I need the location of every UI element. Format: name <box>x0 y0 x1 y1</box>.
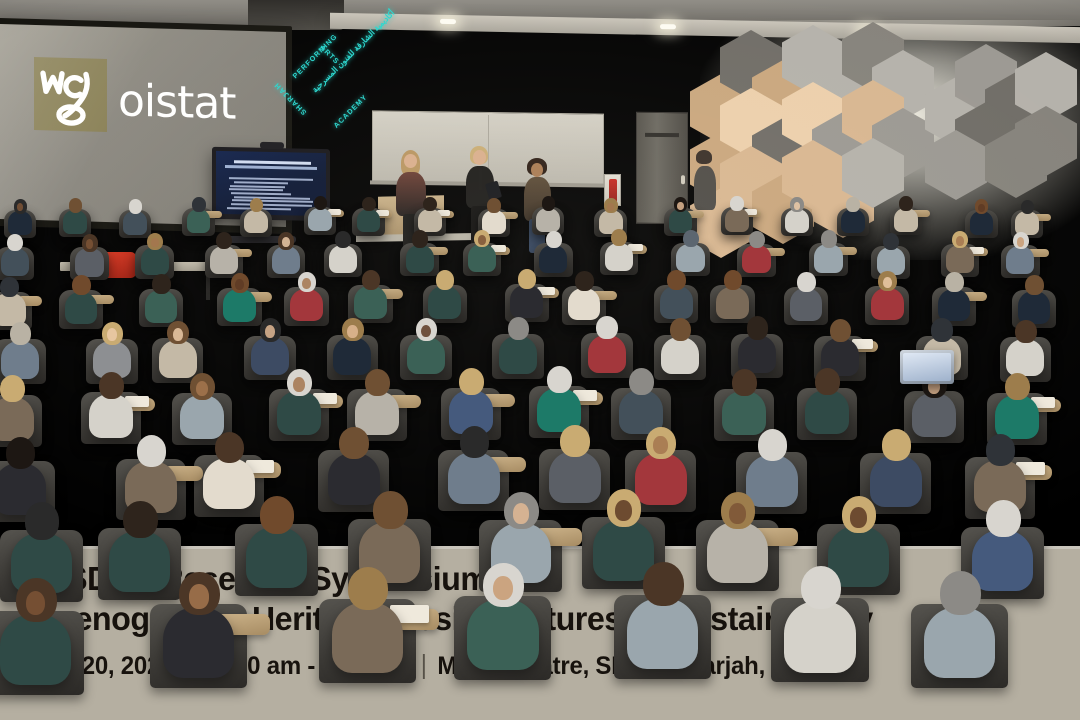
audience-member-face <box>493 576 512 600</box>
audience-member <box>1 341 39 379</box>
audience-member <box>510 285 543 318</box>
audience-member-head <box>373 491 408 528</box>
audience-member <box>141 247 169 275</box>
audience-member <box>1006 339 1044 377</box>
audience-member-head <box>436 270 455 290</box>
audience-member-face <box>151 238 159 248</box>
audience-member-head <box>0 375 25 402</box>
audience-member-head <box>348 567 389 611</box>
audience-member-head <box>129 199 143 214</box>
audience-member <box>742 245 770 273</box>
audience-member <box>635 453 687 505</box>
audience-member-head <box>1021 200 1035 215</box>
audience-member-head <box>487 198 501 213</box>
audience-member-head <box>460 426 490 458</box>
audience-member-head <box>0 277 19 297</box>
audience-member-face <box>794 202 800 210</box>
audience-member-face <box>978 204 984 212</box>
audience-member <box>187 209 211 233</box>
audience-member-head <box>7 234 23 251</box>
audience-member <box>328 453 380 505</box>
audience-member-head <box>412 230 428 247</box>
conference-photo: oistat PERFORMING SHARJAH ARTS ACADEMY أ… <box>0 0 1080 720</box>
audience-member <box>354 286 387 319</box>
audience-member-head <box>69 198 83 213</box>
audience-member-face <box>293 377 305 392</box>
audience-member <box>0 614 71 685</box>
audience-member-head <box>758 429 788 461</box>
audience-member <box>549 451 601 503</box>
audience-member <box>123 211 147 235</box>
audience-member <box>448 452 500 504</box>
audience-member <box>406 245 434 273</box>
audience-member-head <box>192 197 206 212</box>
audience-member <box>716 287 749 320</box>
audience-member-head <box>542 196 556 211</box>
audience-member-head <box>508 317 530 340</box>
event-poster: oistat PERFORMING SHARJAH ARTS ACADEMY أ… <box>0 0 1080 720</box>
audience-member-head <box>459 368 484 395</box>
audience-member-head <box>732 369 757 396</box>
audience-member <box>65 292 98 325</box>
audience-member-head <box>1025 275 1044 295</box>
audience-member <box>627 598 698 669</box>
audience-member-head <box>882 429 912 461</box>
audience-member <box>357 209 381 233</box>
audience-member-face <box>956 236 964 246</box>
audience-member-face <box>86 239 94 249</box>
audience-member-head <box>518 269 537 289</box>
audience-member-face <box>677 202 683 210</box>
audience-member <box>805 390 849 434</box>
audience-member-head <box>123 501 158 538</box>
audience-member <box>0 397 34 441</box>
audience-member <box>841 209 865 233</box>
audience-member <box>870 455 922 507</box>
spaa-arabic-text: أكاديمية الشارقة للفنون المسرحية <box>310 57 347 94</box>
audience-member-head <box>830 319 852 342</box>
audience-member-face <box>478 235 486 245</box>
audience-member <box>468 244 496 272</box>
audience-member-head <box>560 425 590 457</box>
audience-member-head <box>152 274 171 294</box>
audience-member <box>428 286 461 319</box>
audience-member-face <box>883 277 892 288</box>
audience-member <box>145 290 178 323</box>
audience-member-head <box>596 316 618 339</box>
audience-member-head <box>724 270 743 290</box>
presenter-hair <box>696 150 712 164</box>
audience-member-head <box>667 270 686 290</box>
audience-member-face <box>26 591 45 615</box>
downlight-icon <box>660 24 676 29</box>
audience-member-face <box>615 500 632 521</box>
presenter-head <box>473 150 486 165</box>
audience-member <box>746 455 798 507</box>
meta-separator <box>423 654 425 679</box>
audience-member-head <box>730 196 744 211</box>
audience-member-face <box>107 328 117 341</box>
audience-member-face <box>173 328 183 341</box>
audience-member <box>894 208 918 232</box>
audience-member-face <box>653 436 667 454</box>
audience-member-face <box>421 325 431 338</box>
audience-member <box>970 211 994 235</box>
audience-member <box>790 288 823 321</box>
audience-member <box>0 293 26 326</box>
audience-member-head <box>314 196 328 211</box>
audience-member-head <box>10 322 32 345</box>
audience-member-head <box>629 368 654 395</box>
audience-member <box>725 208 749 232</box>
audience-member <box>588 335 626 373</box>
audience-member-head <box>215 432 245 464</box>
audience-member-head <box>137 435 167 467</box>
audience-member-head <box>575 271 594 291</box>
audience-member-head <box>815 368 840 395</box>
audience-member <box>605 243 633 271</box>
presenter-head <box>404 154 417 168</box>
audience-member-head <box>846 197 860 212</box>
audience-member <box>660 286 693 319</box>
audience-member-head <box>362 197 376 212</box>
audience-member <box>784 601 855 672</box>
audience-member <box>89 394 133 438</box>
audience-member-face <box>196 381 208 396</box>
audience-member <box>912 393 956 437</box>
audience-member <box>332 602 403 673</box>
audience-member <box>63 210 87 234</box>
audience-member-head <box>335 231 351 248</box>
audience-member-head <box>986 434 1016 466</box>
audience-member-head <box>940 571 981 615</box>
audience-member <box>329 245 357 273</box>
audience-member-head <box>683 230 699 247</box>
audience-member <box>407 337 445 375</box>
audience-member <box>536 208 560 232</box>
presenter-head <box>531 163 543 177</box>
audience-member-head <box>931 318 953 341</box>
audience-member-face <box>282 237 290 247</box>
audience-member <box>333 337 371 375</box>
audience-member <box>290 289 323 322</box>
audience-member <box>814 244 842 272</box>
audience-member <box>924 607 995 678</box>
audience-member <box>938 289 971 322</box>
audience-member <box>661 337 699 375</box>
door-handle-icon <box>681 175 685 184</box>
webcam-icon <box>260 142 284 150</box>
laptop-screen <box>903 353 951 381</box>
audience-member-head <box>547 366 572 393</box>
audience-member-face <box>189 584 208 608</box>
audience-member-head <box>1005 373 1030 400</box>
audience-member <box>1006 246 1034 274</box>
audience-member <box>871 288 904 321</box>
audience-member-head <box>670 318 692 341</box>
audience-member <box>277 391 321 435</box>
audience-member-head <box>986 500 1021 537</box>
audience-member-head <box>546 231 562 248</box>
downlight-icon <box>440 19 456 24</box>
audience-member-head <box>797 272 816 292</box>
audience-member-face <box>1017 237 1025 247</box>
audience-member-head <box>339 427 369 459</box>
slide-text-line <box>234 181 288 184</box>
audience-member <box>203 458 255 510</box>
audience-member <box>499 336 537 374</box>
audience-member-face <box>850 507 867 528</box>
audience-member-face <box>607 203 613 211</box>
audience-member-head <box>6 437 36 469</box>
audience-member <box>539 245 567 273</box>
audience-member-head <box>747 316 769 339</box>
audience-member-head <box>821 230 837 247</box>
audience-member <box>308 208 332 232</box>
audience-member <box>738 335 776 373</box>
audience-member <box>75 248 103 276</box>
audience-member <box>244 210 268 234</box>
audience-member <box>418 209 442 233</box>
slide-text-line <box>230 185 285 188</box>
audience-member <box>246 527 307 588</box>
audience-member <box>272 246 300 274</box>
audience-member-head <box>25 502 60 539</box>
audience-member-head <box>611 229 627 246</box>
audience-member-head <box>99 372 124 399</box>
audience-member-head <box>643 562 684 606</box>
audience-member <box>995 395 1039 439</box>
lanyard <box>479 168 482 190</box>
audience-member <box>109 531 170 592</box>
audience-member-head <box>883 233 899 250</box>
audience-member-head <box>365 369 390 396</box>
hexagonal-acoustic-panels <box>690 22 1080 197</box>
audience-member <box>722 391 766 435</box>
slide-text-line <box>229 189 283 192</box>
audience-member-head <box>945 272 964 292</box>
audience-member-face <box>347 325 357 338</box>
laptop <box>900 350 954 384</box>
audience-member <box>1018 291 1051 324</box>
audience-member-head <box>801 566 842 610</box>
audience-member <box>593 520 654 581</box>
audience-member <box>676 244 704 272</box>
audience-member <box>568 288 601 321</box>
audience-member <box>210 246 238 274</box>
audience-member-head <box>362 270 381 290</box>
audience-member <box>972 530 1033 591</box>
audience-member-face <box>265 325 275 338</box>
audience-member-face <box>235 279 244 290</box>
audience-member <box>180 395 224 439</box>
audience-member <box>467 599 538 670</box>
audience-member <box>1 248 29 276</box>
audience-member-head <box>216 232 232 249</box>
audience-member-head <box>423 197 437 212</box>
audience-member <box>159 340 197 378</box>
audience-member-head <box>72 275 91 295</box>
audience-member-head <box>260 496 295 533</box>
audience-member-head <box>899 196 913 211</box>
audience-member <box>785 209 809 233</box>
audience-member-face <box>513 503 530 524</box>
audience-member <box>8 211 32 235</box>
audience-member <box>223 289 256 322</box>
audience-member <box>707 522 768 583</box>
audience-member-face <box>729 503 746 524</box>
audience-member <box>251 337 289 375</box>
audience-member-face <box>302 278 311 289</box>
spaa-line-bottom: ACADEMY <box>332 92 370 130</box>
audience-member <box>946 245 974 273</box>
audience-member <box>163 607 234 678</box>
audience-member-head <box>749 231 765 248</box>
slide-text-line <box>231 192 291 195</box>
audience-member-head <box>1015 320 1037 343</box>
